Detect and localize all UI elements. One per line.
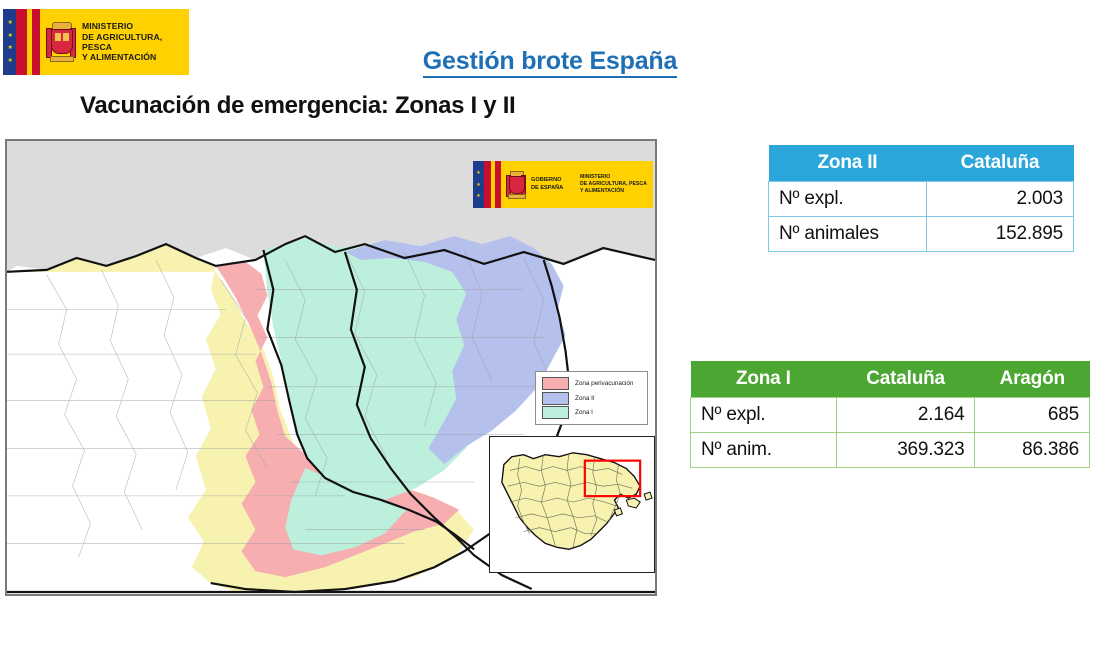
- zona-ii-row-0-label: Nº expl.: [769, 182, 927, 217]
- zona-i-row-0-cataluna: 2.164: [836, 398, 975, 433]
- ministerio-small-line-3: Y ALIMENTACIÓN: [580, 188, 647, 195]
- page-title: Gestión brote España: [0, 47, 1100, 76]
- gobierno-line-2: DE ESPAÑA: [531, 185, 575, 192]
- gobierno-line-1: GOBIERNO: [531, 177, 575, 184]
- zona-i-header-row: Zona I Cataluña Aragón: [691, 361, 1090, 398]
- legend-swatch-zona-i: [542, 406, 569, 419]
- zona-ii-table: Zona II Cataluña Nº expl. 2.003 Nº anima…: [768, 145, 1074, 252]
- legend-item-zona-i: Zona I: [542, 406, 641, 419]
- map-legend: Zona perivacunación Zona II Zona I: [535, 371, 648, 425]
- zona-i-row-1-label: Nº anim.: [691, 433, 837, 468]
- legend-label-perivacunacion: Zona perivacunación: [575, 380, 633, 387]
- zona-i-header-zone: Zona I: [691, 361, 837, 398]
- legend-swatch-zona-ii: [542, 392, 569, 405]
- page-title-text: Gestión brote España: [423, 47, 677, 78]
- zona-i-header-cataluna: Cataluña: [836, 361, 975, 398]
- ministerio-small-line-2: DE AGRICULTURA, PESCA: [580, 181, 647, 188]
- gobierno-de-espana-logo: ★ ★ ★ GOBIERNO DE ESPAÑA MINISTERIO DE A…: [473, 161, 653, 208]
- legend-label-zona-ii: Zona II: [575, 395, 595, 402]
- legend-swatch-perivacunacion: [542, 377, 569, 390]
- menorca: [644, 492, 652, 500]
- eu-flag-band-icon-small: ★ ★ ★: [473, 161, 484, 208]
- legend-item-perivacunacion: Zona perivacunación: [542, 377, 641, 390]
- table-row: Nº animales 152.895: [769, 217, 1074, 252]
- zona-i-row-0-aragon: 685: [975, 398, 1090, 433]
- spain-outline: [490, 437, 654, 572]
- eu-star-icon: ★: [8, 34, 12, 38]
- spain-locator-inset-map: [489, 436, 655, 573]
- spain-coat-of-arms-icon-small: [506, 171, 526, 199]
- eu-star-icon: ★: [476, 194, 480, 198]
- page-subtitle: Vacunación de emergencia: Zonas I y II: [80, 92, 515, 120]
- ibiza: [614, 508, 622, 516]
- eu-star-icon: ★: [476, 183, 480, 187]
- ministerio-small-line-1: MINISTERIO: [580, 174, 647, 181]
- table-row: Nº expl. 2.164 685: [691, 398, 1090, 433]
- table-row: Nº anim. 369.323 86.386: [691, 433, 1090, 468]
- zona-ii-row-0-cataluna: 2.003: [926, 182, 1073, 217]
- table-row: Nº expl. 2.003: [769, 182, 1074, 217]
- legend-label-zona-i: Zona I: [575, 409, 593, 416]
- zona-i-table: Zona I Cataluña Aragón Nº expl. 2.164 68…: [690, 361, 1090, 468]
- zona-i-row-1-aragon: 86.386: [975, 433, 1090, 468]
- zona-i-row-1-cataluna: 369.323: [836, 433, 975, 468]
- zona-i-header-aragon: Aragón: [975, 361, 1090, 398]
- zona-ii-header-row: Zona II Cataluña: [769, 145, 1074, 182]
- zona-ii-header-cataluna: Cataluña: [926, 145, 1073, 182]
- ministerio-line-1: MINISTERIO: [82, 21, 189, 31]
- zona-ii-row-1-cataluna: 152.895: [926, 217, 1073, 252]
- spain-flag-red-stripe-small: [484, 161, 491, 208]
- zona-i-row-0-label: Nº expl.: [691, 398, 837, 433]
- ministerio-text-small: MINISTERIO DE AGRICULTURA, PESCA Y ALIME…: [580, 174, 647, 194]
- eu-star-icon: ★: [8, 21, 12, 25]
- gobierno-text: GOBIERNO DE ESPAÑA: [531, 177, 575, 192]
- zona-ii-header-zone: Zona II: [769, 145, 927, 182]
- legend-item-zona-ii: Zona II: [542, 392, 641, 405]
- eu-star-icon: ★: [476, 171, 480, 175]
- zona-ii-row-1-label: Nº animales: [769, 217, 927, 252]
